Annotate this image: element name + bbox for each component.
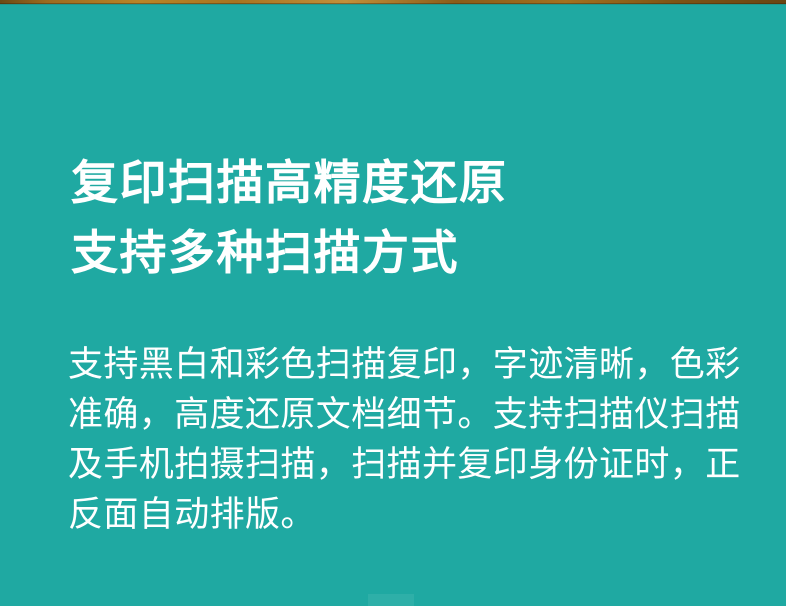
promo-banner: 复印扫描高精度还原 支持多种扫描方式 支持黑白和彩色扫描复印，字迹清晰，色彩 准… xyxy=(0,0,786,606)
headline-line-2: 支持多种扫描方式 xyxy=(71,218,731,288)
body-line-2: 准确，高度还原文档细节。支持扫描仪扫描 xyxy=(68,390,732,440)
headline: 复印扫描高精度还原 支持多种扫描方式 xyxy=(71,148,731,288)
top-edge-strip-shadow xyxy=(0,3,786,5)
headline-line-1: 复印扫描高精度还原 xyxy=(71,148,731,218)
body-line-3: 及手机拍摄扫描，扫描并复印身份证时，正 xyxy=(68,440,732,490)
body-line-1: 支持黑白和彩色扫描复印，字迹清晰，色彩 xyxy=(68,340,732,390)
body-description: 支持黑白和彩色扫描复印，字迹清晰，色彩 准确，高度还原文档细节。支持扫描仪扫描 … xyxy=(68,340,732,540)
bottom-sheen xyxy=(368,594,414,606)
body-line-4: 反面自动排版。 xyxy=(68,490,732,540)
